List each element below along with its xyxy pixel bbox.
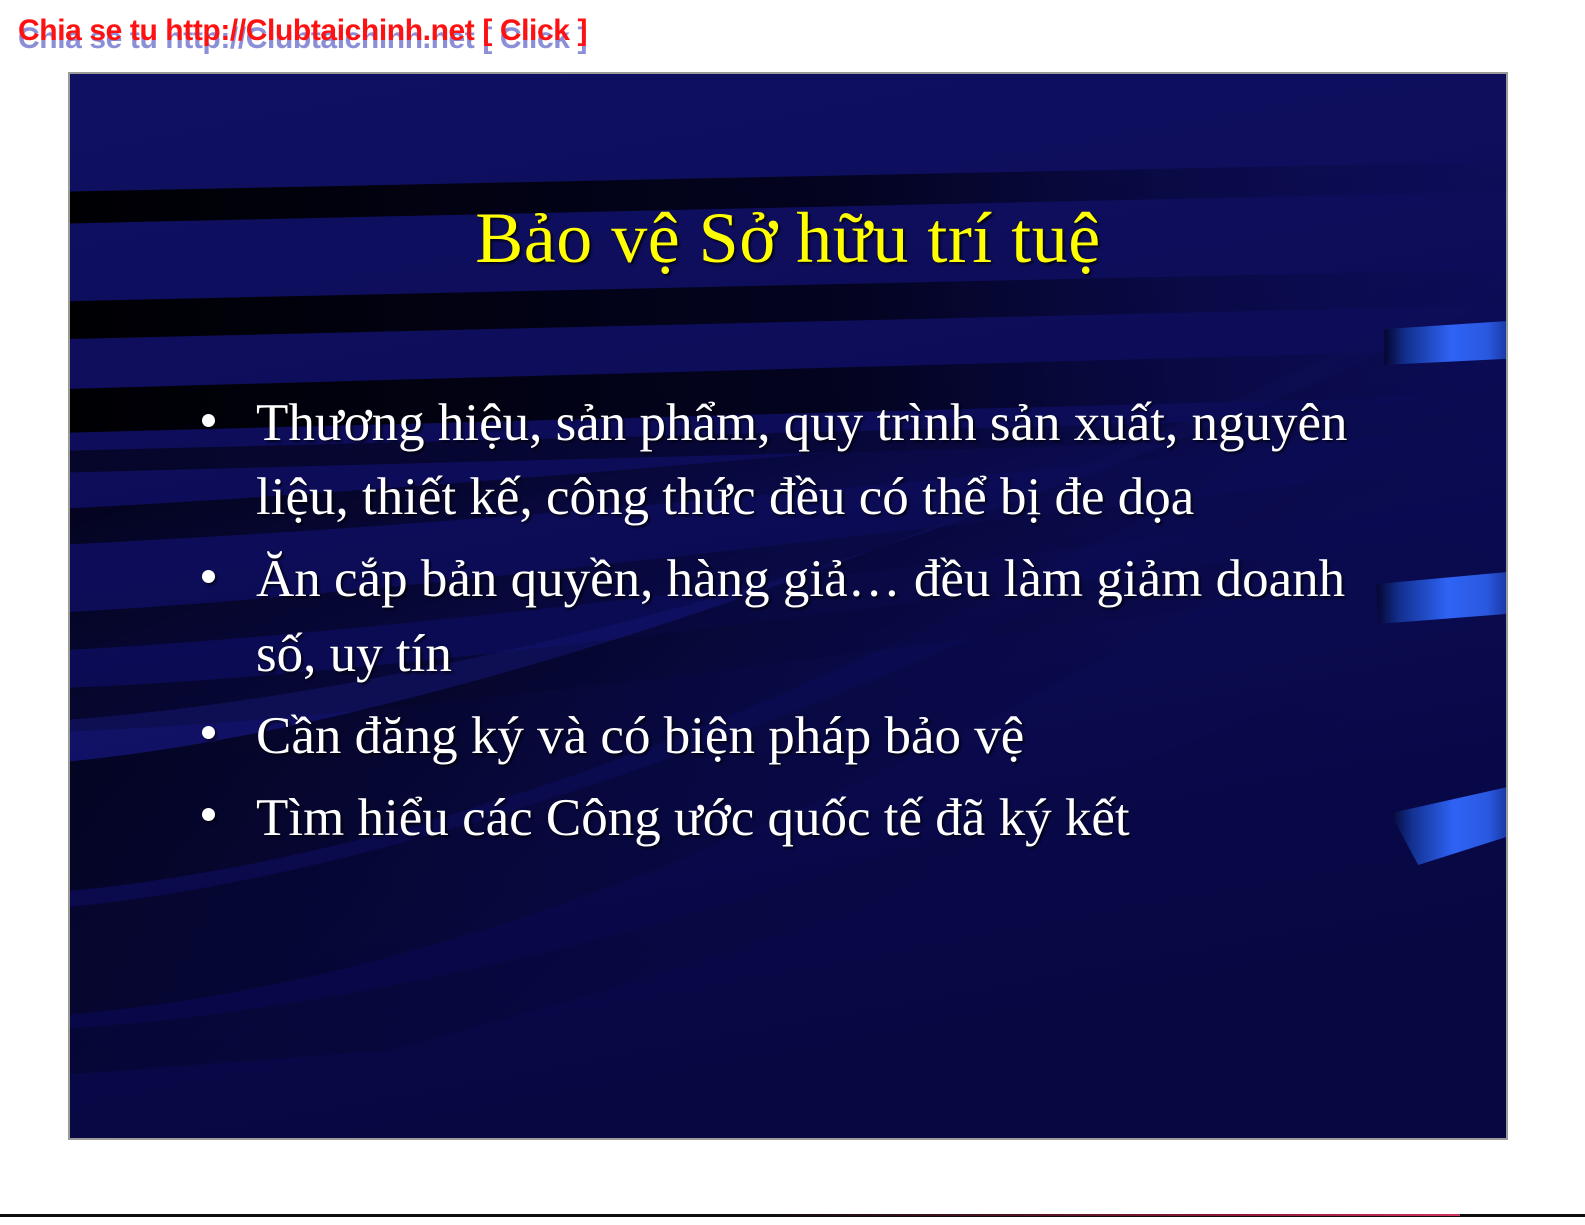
watermark-link-text[interactable]: Chia se tu http://Clubtaichinh.net [ Cli… — [18, 14, 587, 48]
slide-title: Bảo vệ Sở hữu trí tuệ — [70, 200, 1506, 276]
bullet-text: Tìm hiểu các Công ước quốc tế đã ký kết — [256, 789, 1130, 847]
bullet-dot-icon — [202, 726, 215, 739]
bullet-list: Thương hiệu, sản phẩm, quy trình sản xuấ… — [188, 386, 1413, 863]
bullet-text: Thương hiệu, sản phẩm, quy trình sản xuấ… — [256, 394, 1348, 526]
bullet-item: Ăn cắp bản quyền, hàng giả… đều làm giảm… — [188, 542, 1413, 690]
bullet-item: Tìm hiểu các Công ước quốc tế đã ký kết — [188, 781, 1413, 855]
bullet-item: Thương hiệu, sản phẩm, quy trình sản xuấ… — [188, 386, 1413, 534]
bullet-text: Ăn cắp bản quyền, hàng giả… đều làm giảm… — [256, 550, 1345, 682]
bullet-item: Cần đăng ký và có biện pháp bảo vệ — [188, 699, 1413, 773]
page-bottom-rule-tint — [760, 1214, 1460, 1216]
presentation-slide: Bảo vệ Sở hữu trí tuệ Thương hiệu, sản p… — [68, 72, 1508, 1140]
slide-content: Bảo vệ Sở hữu trí tuệ Thương hiệu, sản p… — [70, 74, 1506, 1138]
bullet-dot-icon — [202, 414, 215, 427]
watermark-header: Chia se tu http://Clubtaichinh.net [ Cli… — [0, 0, 1585, 60]
bullet-dot-icon — [202, 570, 215, 583]
bullet-text: Cần đăng ký và có biện pháp bảo vệ — [256, 707, 1024, 765]
bullet-dot-icon — [202, 808, 215, 821]
